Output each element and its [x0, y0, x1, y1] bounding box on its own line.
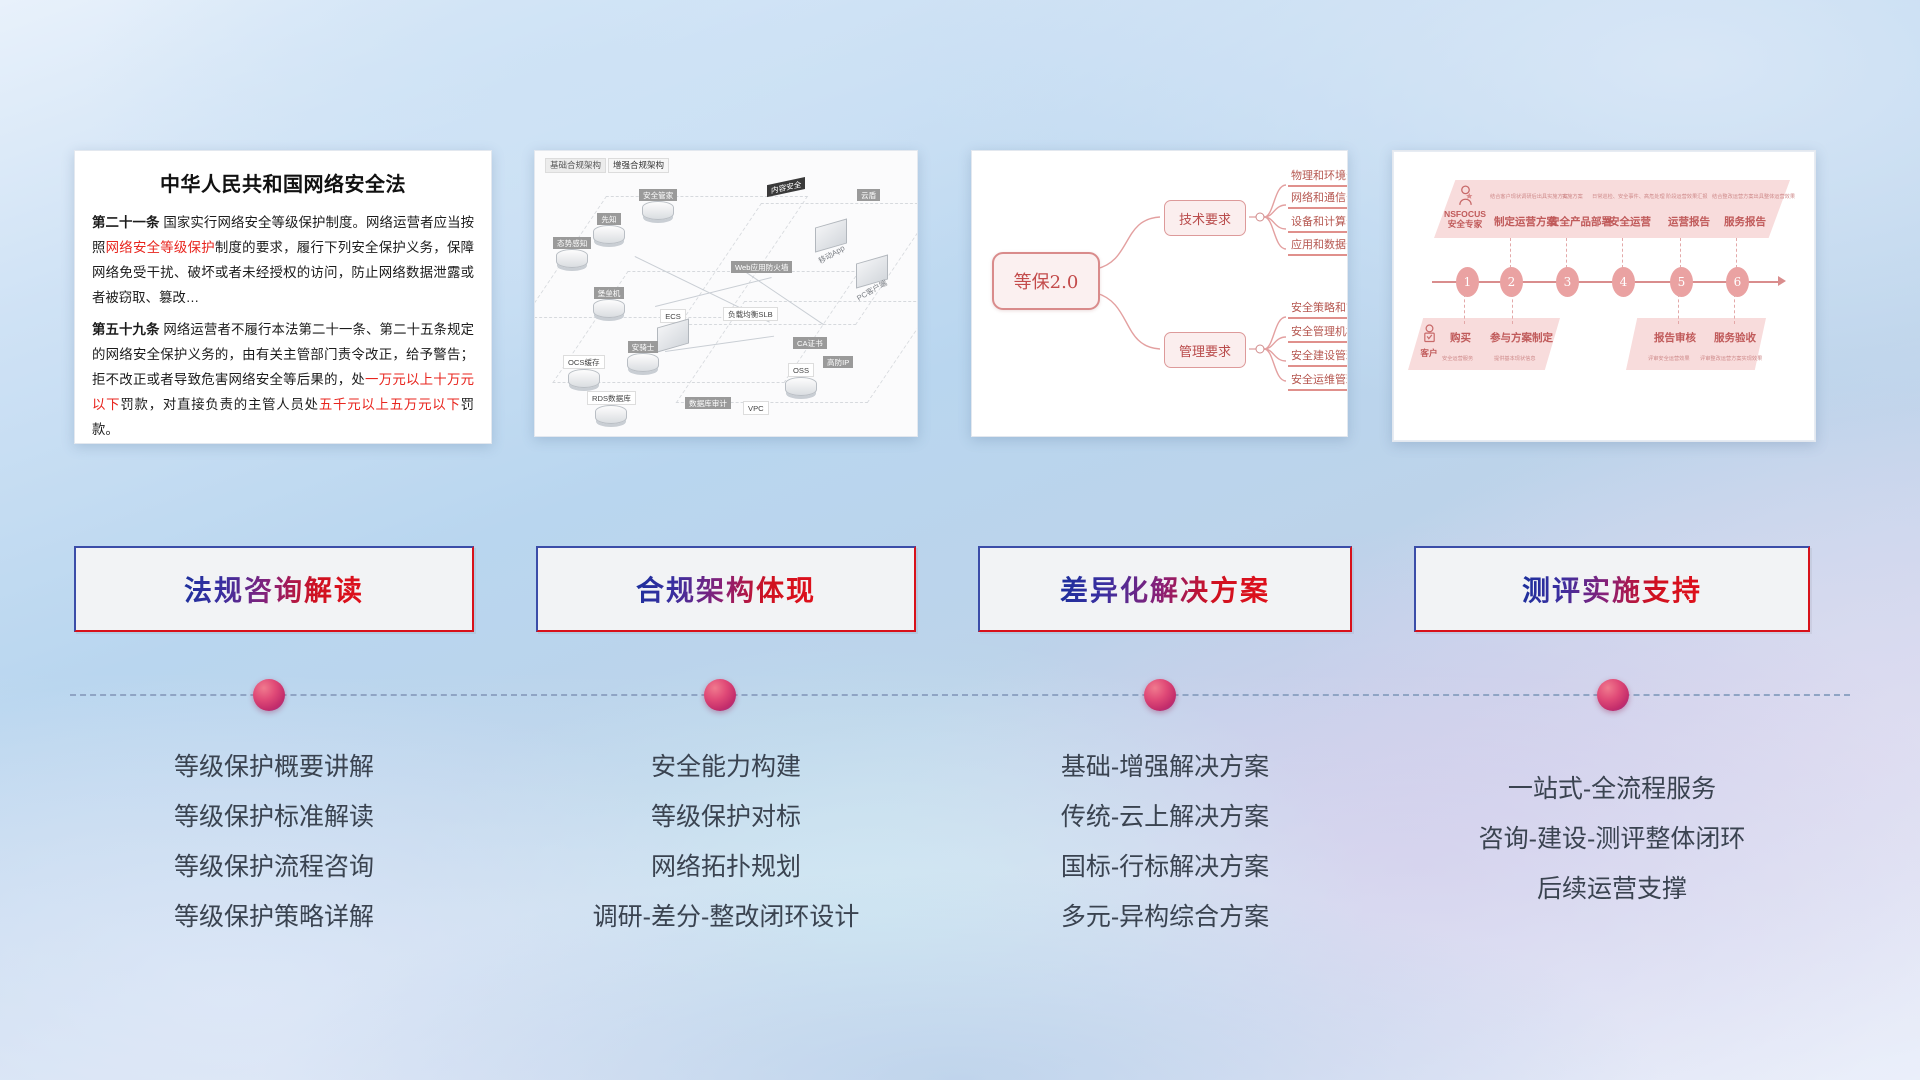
feature-list-3: 基础-增强解决方案 传统-云上解决方案 国标-行标解决方案 多元-异构综合方案 — [978, 742, 1352, 942]
server-icon — [657, 319, 689, 353]
tab-basic-architecture[interactable]: 基础合规架构 — [545, 158, 606, 173]
node-label-security-butler: 安全管家 — [639, 189, 677, 201]
cylinder-icon — [785, 377, 817, 396]
mindmap-leaf-construction-mgmt: 安全建设管理 — [1288, 349, 1348, 367]
law-article-21-label: 第二十一条 — [92, 215, 160, 230]
top-step-2-sub: 实施方案 — [1562, 193, 1583, 200]
node-pc-client: PC客户端 — [851, 259, 892, 296]
rail-knob-4[interactable] — [1597, 679, 1629, 711]
feature-list-1: 等级保护概要讲解 等级保护标准解读 等级保护流程咨询 等级保护策略详解 — [74, 742, 474, 942]
bottom-step-2-sub: 提供基本现状信息 — [1494, 355, 1536, 362]
top-step-4-main: 运营报告 — [1668, 214, 1710, 229]
list-item: 后续运营支撑 — [1414, 864, 1810, 914]
top-step-1-main: 制定运营方案 — [1494, 214, 1557, 229]
list-item: 等级保护标准解读 — [74, 792, 474, 842]
node-label-slb: 负载均衡SLB — [723, 307, 778, 321]
bottom-step-4-sub: 评审整改运营方案实现效果 — [1700, 355, 1762, 362]
timeline-step-2[interactable]: 2 — [1500, 267, 1523, 297]
leader-line-2 — [1510, 238, 1511, 268]
timeline-arrow-icon — [1778, 276, 1786, 286]
bottom-step-1-sub: 安全运营服务 — [1442, 355, 1473, 362]
law-article-59-label: 第五十九条 — [92, 322, 160, 337]
timeline-step-6[interactable]: 6 — [1726, 267, 1749, 297]
mindmap-leaf-app-data: 应用和数据安全 — [1288, 238, 1348, 256]
leader-line-4 — [1622, 238, 1623, 268]
mindmap-leaf-physical-env: 物理和环境安全 — [1288, 169, 1348, 187]
bottom-step-3-sub: 评审安全运营效果 — [1648, 355, 1690, 362]
law-article-21: 第二十一条 国家实行网络安全等级保护制度。网络运营者应当按照网络安全等级保护制度… — [92, 210, 474, 310]
thumbnail-card-row: 中华人民共和国网络安全法 第二十一条 国家实行网络安全等级保护制度。网络运营者应… — [0, 150, 1920, 450]
list-item: 多元-异构综合方案 — [978, 892, 1352, 942]
headline-label-3: 差异化解决方案 — [1060, 569, 1270, 609]
node-label-db-audit: 数据库审计 — [685, 397, 731, 409]
law-article-59: 第五十九条 网络运营者不履行本法第二十一条、第二十五条规定的网络安全保护义务的，… — [92, 317, 474, 442]
card-cybersecurity-law[interactable]: 中华人民共和国网络安全法 第二十一条 国家实行网络安全等级保护制度。网络运营者应… — [74, 150, 492, 444]
bottom-step-2-main: 参与方案制定 — [1490, 330, 1553, 345]
node-ca-certificate: CA证书 — [793, 337, 827, 349]
node-label-waf: Web应用防火墙 — [731, 261, 792, 273]
node-label-oss: OSS — [788, 363, 814, 377]
top-step-1-sub: 结合客户现状调研后出具实施方案 — [1490, 193, 1568, 200]
node-label-bastion-host: 堡垒机 — [594, 287, 625, 299]
node-label-vpc: VPC — [743, 401, 769, 415]
architecture-diagram: 基础合规架构 增强合规架构 态势感知 先知 — [535, 151, 917, 436]
mindmap-leaf-org-people: 安全管理机构和人员 — [1288, 325, 1348, 343]
customer-actor: 客户 — [1412, 324, 1446, 358]
mindmap-leaf-network-comm: 网络和通信安全 — [1288, 191, 1348, 209]
node-label-anqishi: 安骑士 — [628, 341, 659, 353]
leader-line-5 — [1680, 238, 1681, 268]
node-content-security: 内容安全 — [767, 181, 805, 193]
node-label-xianzhi: 先知 — [597, 213, 620, 225]
vendor-role: 安全专家 — [1438, 219, 1492, 229]
node-label-cloud-shield: 云盾 — [857, 189, 880, 201]
rail-knob-3[interactable] — [1144, 679, 1176, 711]
card-mindmap-dengbao[interactable]: 等保2.0 技术要求 管理要求 物理和环境安全 网络和通信安全 设备和计算安全 … — [971, 150, 1348, 437]
rail-knob-1[interactable] — [253, 679, 285, 711]
node-label-ocs-cache: OCS缓存 — [563, 355, 605, 369]
list-item: 传统-云上解决方案 — [978, 792, 1352, 842]
bottom-step-1-main: 购买 — [1450, 330, 1471, 345]
mindmap-branch-technical[interactable]: 技术要求 — [1164, 200, 1246, 236]
leader-line-8 — [1678, 294, 1679, 324]
node-xianzhi: 先知 — [593, 213, 625, 244]
service-flow-diagram: NSFOCUS 安全专家 客户 结合客户现状调研后出具实施方案 制定运营方案 实… — [1393, 151, 1815, 441]
timeline-step-4[interactable]: 4 — [1612, 267, 1635, 297]
cylinder-icon — [642, 201, 674, 220]
headline-box-compliance-architecture[interactable]: 合规架构体现 — [536, 546, 916, 632]
vendor-name: NSFOCUS — [1438, 209, 1492, 219]
node-ecs: ECS — [657, 309, 689, 348]
list-item: 国标-行标解决方案 — [978, 842, 1352, 892]
mindmap-leaf-policy-system: 安全策略和管理制度 — [1288, 301, 1348, 319]
list-item: 等级保护对标 — [536, 792, 916, 842]
vendor-actor: NSFOCUS 安全专家 — [1438, 185, 1492, 229]
node-label-situational-awareness: 态势感知 — [553, 237, 591, 249]
list-item: 咨询-建设-测评整体闭环 — [1414, 814, 1810, 864]
headline-box-assessment-support[interactable]: 测评实施支持 — [1414, 546, 1810, 632]
top-step-5-sub: 结合整改运营方案出具整体运营效果 — [1712, 193, 1795, 200]
customer-person-icon — [1422, 324, 1437, 345]
list-item: 基础-增强解决方案 — [978, 742, 1352, 792]
top-step-3-main: 安全运营 — [1609, 214, 1651, 229]
list-item: 一站式-全流程服务 — [1414, 764, 1810, 814]
feature-list-row: 等级保护概要讲解 等级保护标准解读 等级保护流程咨询 等级保护策略详解 安全能力… — [0, 742, 1920, 972]
node-label-anti-ddos-ip: 高防IP — [823, 356, 853, 368]
node-situational-awareness: 态势感知 — [553, 237, 591, 268]
headline-box-differentiated-solution[interactable]: 差异化解决方案 — [978, 546, 1352, 632]
cylinder-icon — [593, 225, 625, 244]
leader-line-9 — [1734, 294, 1735, 324]
node-mobile-app: 移动App — [813, 223, 850, 260]
list-item: 等级保护概要讲解 — [74, 742, 474, 792]
node-anti-ddos-ip: 高防IP — [823, 356, 853, 368]
node-ocs-cache: OCS缓存 — [563, 355, 605, 388]
law-title: 中华人民共和国网络安全法 — [92, 168, 474, 197]
architecture-tabs[interactable]: 基础合规架构 增强合规架构 — [545, 158, 669, 173]
law-article-59-text-b: 罚款，对直接负责的主管人员处 — [120, 397, 318, 412]
cylinder-icon — [568, 369, 600, 388]
leader-line-1 — [1464, 294, 1465, 324]
cylinder-icon — [593, 299, 625, 318]
list-item: 等级保护策略详解 — [74, 892, 474, 942]
list-item: 安全能力构建 — [536, 742, 916, 792]
mindmap-root-node[interactable]: 等保2.0 — [992, 252, 1100, 310]
cylinder-icon — [595, 405, 627, 424]
list-item: 网络拓扑规划 — [536, 842, 916, 892]
headline-row: 法规咨询解读 合规架构体现 差异化解决方案 测评实施支持 — [0, 546, 1920, 632]
headline-label-2: 合规架构体现 — [636, 569, 816, 609]
top-step-5-main: 服务报告 — [1724, 214, 1766, 229]
node-label-rds: RDS数据库 — [587, 391, 636, 405]
bottom-step-3-main: 报告审核 — [1654, 330, 1696, 345]
top-step-2-main: 安全产品部署 — [1549, 214, 1612, 229]
timeline-rail — [70, 694, 1850, 698]
mindmap-leaf-ops-mgmt: 安全运维管理 — [1288, 373, 1348, 391]
cylinder-icon — [627, 353, 659, 372]
node-security-butler: 安全管家 — [639, 189, 677, 220]
tab-enhanced-architecture[interactable]: 增强合规架构 — [608, 158, 669, 173]
mindmap-branch-management[interactable]: 管理要求 — [1164, 332, 1246, 368]
node-db-audit: 数据库审计 — [685, 397, 731, 409]
list-item: 等级保护流程咨询 — [74, 842, 474, 892]
timeline-step-5[interactable]: 5 — [1670, 267, 1693, 297]
list-item: 调研-差分-整改闭环设计 — [536, 892, 916, 942]
leader-line-3 — [1566, 238, 1567, 268]
headline-label-1: 法规咨询解读 — [184, 569, 364, 609]
feature-list-2: 安全能力构建 等级保护对标 网络拓扑规划 调研-差分-整改闭环设计 — [536, 742, 916, 942]
law-article-59-highlight-2: 五千元以上五万元以下 — [319, 397, 461, 412]
timeline-step-3[interactable]: 3 — [1556, 267, 1579, 297]
node-bastion-host: 堡垒机 — [593, 287, 625, 318]
mindmap-leaf-device-compute: 设备和计算安全 — [1288, 215, 1348, 233]
headline-box-regulation-consulting[interactable]: 法规咨询解读 — [74, 546, 474, 632]
node-waf: Web应用防火墙 — [731, 261, 792, 273]
customer-role: 客户 — [1412, 348, 1446, 358]
node-cloud-shield: 云盾 — [857, 189, 880, 201]
node-anqishi: 安骑士 — [627, 341, 659, 372]
mindmap: 等保2.0 技术要求 管理要求 物理和环境安全 网络和通信安全 设备和计算安全 … — [972, 151, 1347, 436]
top-step-4-sub: 阶段运营效果汇报 — [1666, 193, 1708, 200]
slide-stage: 中华人民共和国网络安全法 第二十一条 国家实行网络安全等级保护制度。网络运营者应… — [0, 0, 1920, 1080]
card-service-timeline[interactable]: NSFOCUS 安全专家 客户 结合客户现状调研后出具实施方案 制定运营方案 实… — [1392, 150, 1816, 442]
law-document: 中华人民共和国网络安全法 第二十一条 国家实行网络安全等级保护制度。网络运营者应… — [75, 151, 491, 443]
bottom-step-4-main: 服务验收 — [1714, 330, 1756, 345]
headline-label-4: 测评实施支持 — [1522, 569, 1702, 609]
timeline-step-1[interactable]: 1 — [1456, 267, 1479, 297]
leader-line-6 — [1736, 238, 1737, 268]
node-label-content-security: 内容安全 — [767, 177, 805, 197]
card-cloud-architecture[interactable]: 基础合规架构 增强合规架构 态势感知 先知 — [534, 150, 918, 437]
feature-list-4: 一站式-全流程服务 咨询-建设-测评整体闭环 后续运营支撑 — [1414, 742, 1810, 914]
top-step-3-sub: 日常巡检、安全事件、高危处理 — [1592, 193, 1665, 200]
cylinder-icon — [556, 249, 588, 268]
node-oss: OSS — [785, 363, 817, 396]
rail-knob-2[interactable] — [704, 679, 736, 711]
node-label-ca-certificate: CA证书 — [793, 337, 827, 349]
leader-line-7 — [1512, 294, 1513, 324]
node-rds-database: RDS数据库 — [587, 391, 636, 424]
node-slb: 负载均衡SLB — [723, 307, 778, 321]
law-article-21-highlight: 网络安全等级保护 — [106, 240, 215, 255]
expert-person-icon — [1458, 185, 1473, 206]
node-vpc: VPC — [743, 401, 769, 415]
